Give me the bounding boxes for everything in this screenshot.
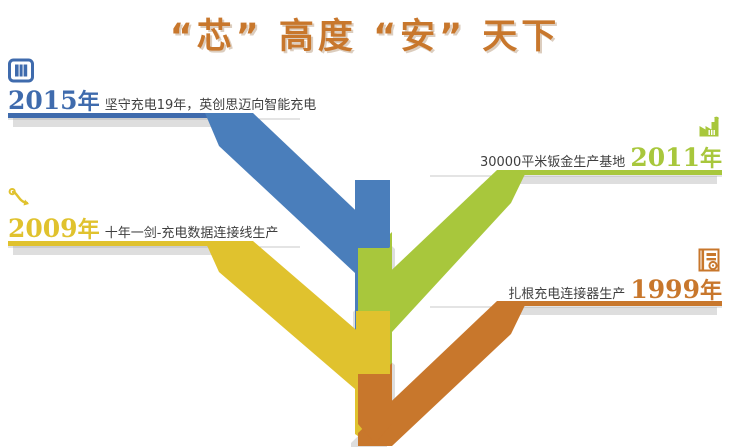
server-gear-icon [696, 247, 722, 273]
entry-2011-text-row: 30000平米钣金生产基地 2011年 [480, 141, 722, 173]
entry-2009-text-row: 2009年 十年一剑-充电数据连接线生产 [8, 212, 278, 244]
entry-2015-description: 坚守充电19年，英创思迈向智能充电 [105, 98, 317, 113]
entry-2009-year: 2009年 [8, 214, 100, 243]
entry-1999-text-row: 扎根充电连接器生产 1999年 [508, 273, 722, 305]
ribbon-2015-blue [8, 113, 390, 428]
ribbon-1999-orange [358, 301, 722, 446]
entry-1999-description: 扎根充电连接器生产 [508, 287, 625, 302]
entry-2015-year: 2015年 [8, 86, 100, 115]
ribbon-2009-yellow [8, 241, 390, 446]
center-arrow-stack [355, 180, 392, 443]
entry-2011-year: 2011年 [630, 143, 722, 172]
entry-1999-year: 1999年 [630, 275, 722, 304]
entry-2015-text-row: 2015年 坚守充电19年，英创思迈向智能充电 [8, 84, 316, 116]
infographic-canvas: “芯” 高度 “安” 天下 [0, 0, 730, 447]
cable-connector-icon [8, 186, 34, 212]
factory-icon [696, 115, 722, 141]
entry-2011-description: 30000平米钣金生产基地 [480, 155, 625, 170]
columns-building-icon [8, 58, 34, 84]
entry-2009-description: 十年一剑-充电数据连接线生产 [105, 226, 279, 241]
